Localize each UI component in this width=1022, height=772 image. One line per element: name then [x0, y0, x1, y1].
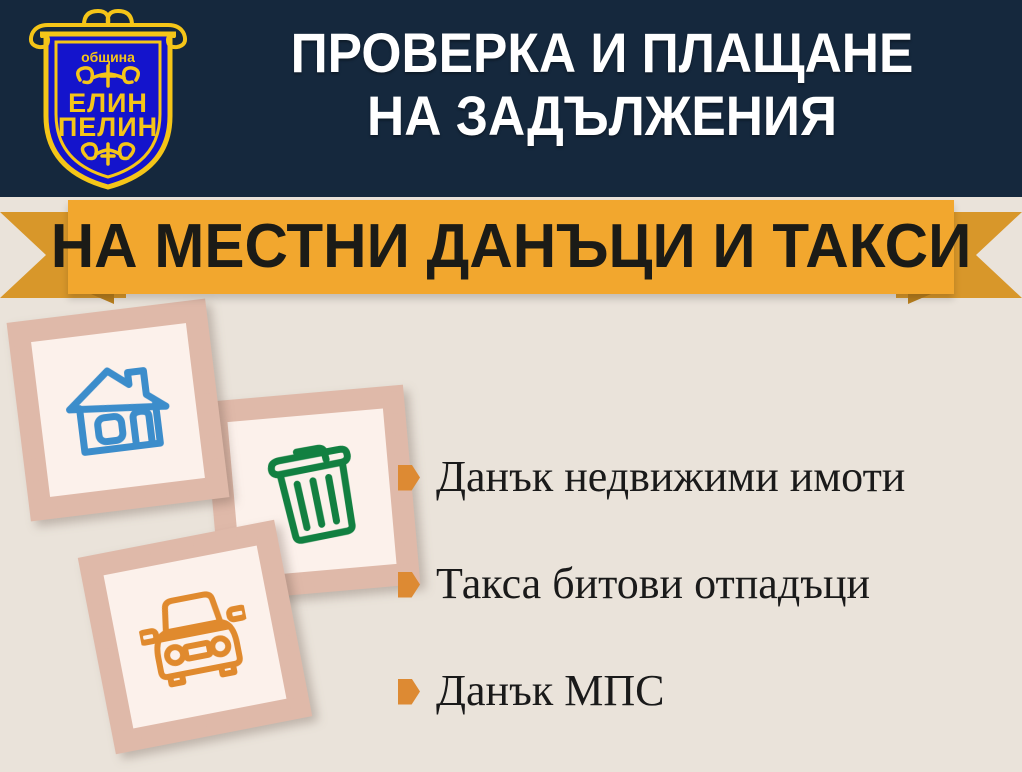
- stamp-collage: [0, 300, 420, 770]
- list-item-label: Данък МПС: [436, 668, 664, 714]
- list-item[interactable]: Такса битови отпадъци: [398, 531, 1012, 638]
- stamp-vehicle-tax: [78, 520, 312, 754]
- poster-canvas: община ЕЛИН ПЕЛИН ПРОВЕРКА И ПЛАЩАНЕ НА …: [0, 0, 1022, 772]
- list-item[interactable]: Данък МПС: [398, 638, 1012, 745]
- ribbon-text: НА МЕСТНИ ДАНЪЦИ И ТАКСИ: [81, 200, 940, 294]
- list-item-label: Такса битови отпадъци: [436, 561, 870, 607]
- list-item-label: Данък недвижими имоти: [436, 454, 905, 500]
- arrow-bullet-icon: [398, 465, 420, 491]
- municipality-logo: община ЕЛИН ПЕЛИН: [18, 4, 198, 194]
- list-item[interactable]: Данък недвижими имоти: [398, 424, 1012, 531]
- house-icon: [7, 299, 230, 522]
- arrow-bullet-icon: [398, 572, 420, 598]
- page-title-line-1: ПРОВЕРКА И ПЛАЩАНЕ: [228, 22, 975, 85]
- car-front-icon: [78, 520, 312, 754]
- stamp-property: [7, 299, 230, 522]
- page-title-line-2: НА ЗАДЪЛЖЕНИЯ: [228, 85, 975, 148]
- page-title: ПРОВЕРКА И ПЛАЩАНЕ НА ЗАДЪЛЖЕНИЯ: [228, 22, 975, 147]
- logo-line-two: ПЕЛИН: [58, 112, 158, 142]
- arrow-bullet-icon: [398, 679, 420, 705]
- ribbon-band: НА МЕСТНИ ДАНЪЦИ И ТАКСИ: [68, 200, 954, 294]
- subtitle-ribbon: НА МЕСТНИ ДАНЪЦИ И ТАКСИ: [0, 196, 1022, 306]
- logo-label-obshtina: община: [81, 49, 135, 65]
- tax-type-list: Данък недвижими имоти Такса битови отпад…: [398, 424, 1012, 745]
